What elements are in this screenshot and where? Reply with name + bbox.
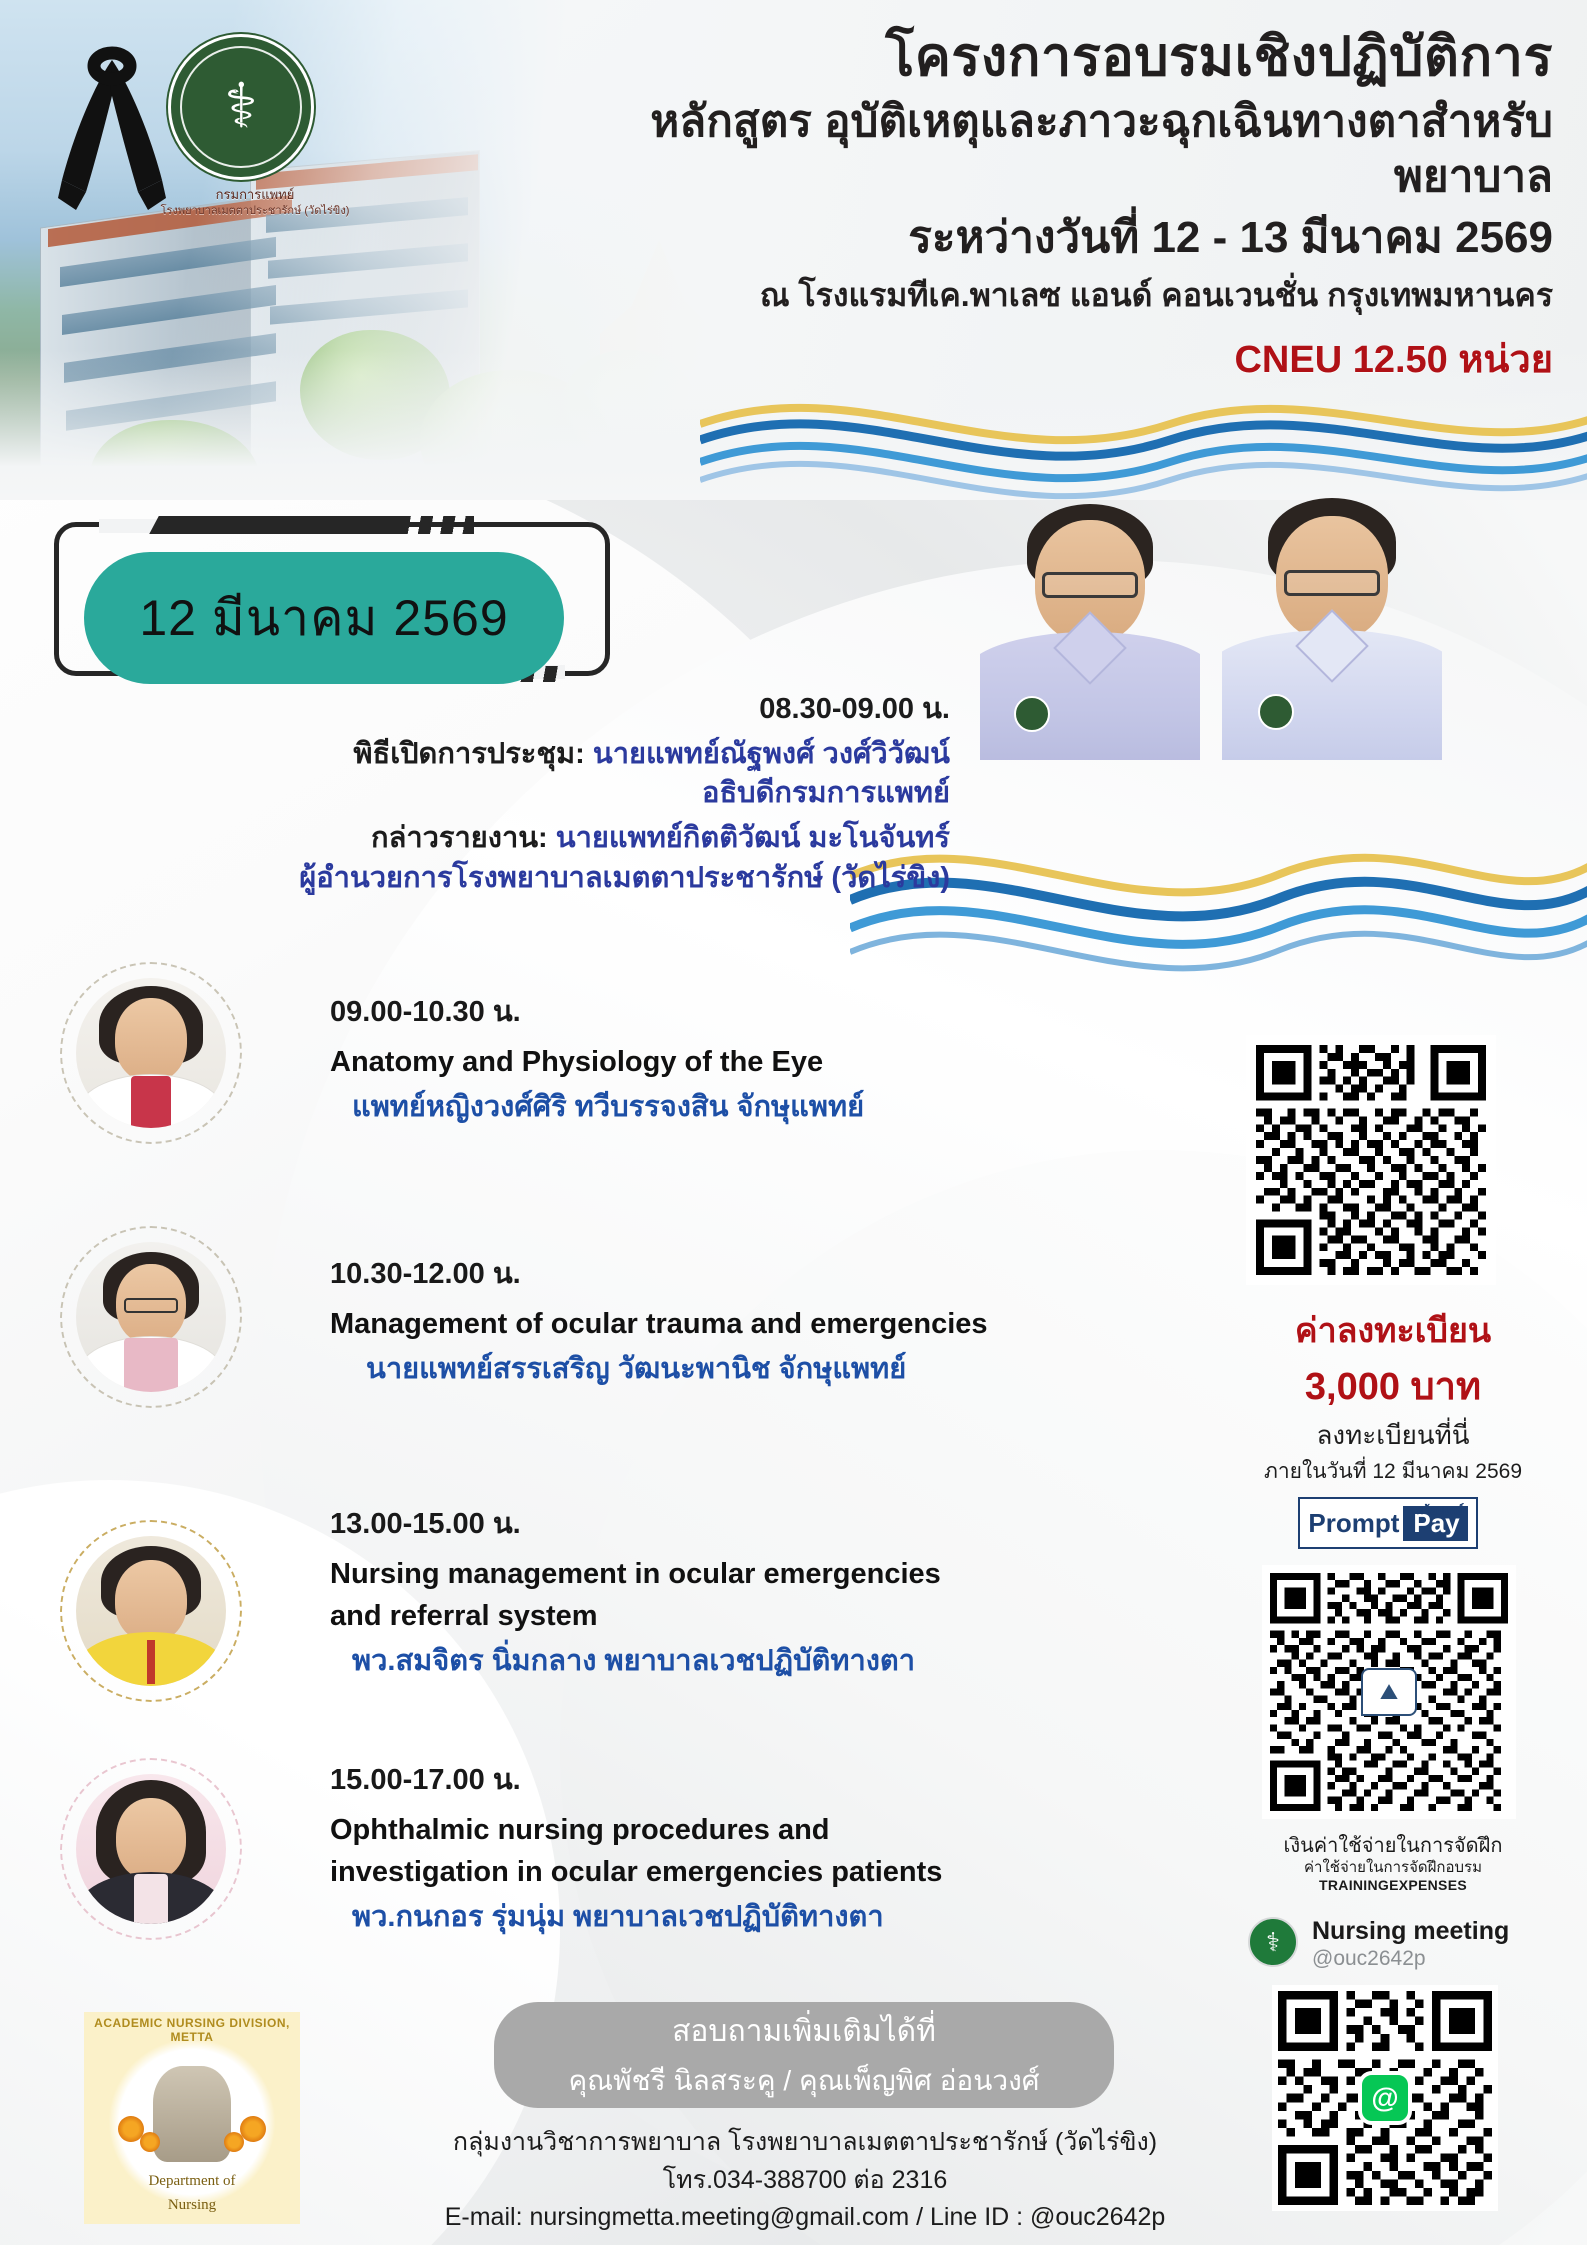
promptpay-thai-label: พร้อมเพย์ <box>1415 1501 1464 1520</box>
promptpay-logo: พร้อมเพย์ Prompt Pay <box>1298 1497 1478 1549</box>
flower-icon-left2 <box>140 2132 160 2152</box>
payment-caption-english: TRAININGEXPENSES <box>1228 1877 1558 1893</box>
speaker-portrait-3 <box>60 1520 242 1702</box>
line-account-name: Nursing meeting <box>1312 1917 1509 1946</box>
session-1-time: 09.00-10.30 น. <box>330 988 1150 1034</box>
date-badge-pill: 12 มีนาคม 2569 <box>84 552 564 684</box>
badge-hatch-top <box>354 516 474 534</box>
academic-logo-dept-line: Department of <box>84 2173 300 2190</box>
session-4-time: 15.00-17.00 น. <box>330 1756 1170 1802</box>
session-4-title-line2: investigation in ocular emergencies pati… <box>330 1852 1170 1892</box>
opening-report-name: นายแพทย์กิตติวัฒน์ มะโนจันทร์ <box>556 822 950 854</box>
speaker-portrait-1 <box>60 962 242 1144</box>
wave-ribbon-middle <box>850 820 1587 1010</box>
session-3-title-line1: Nursing management in ocular emergencies <box>330 1554 1170 1594</box>
fee-amount: 3,000 บาท <box>1228 1355 1558 1416</box>
poster-root: ⚕ กรมการแพทย์ โรงพยาบาลเมตตาประชารักษ์ (… <box>0 0 1587 2245</box>
contact-pill-line2: คุณพัชรี นิลสระคู / คุณเพ็ญพิศ อ่อนวงศ์ <box>568 2059 1039 2103</box>
flower-icon-right2 <box>224 2132 244 2152</box>
session-2-title: Management of ocular trauma and emergenc… <box>330 1304 1160 1344</box>
session-1-speaker: แพทย์หญิงวงศ์ศิริ ทวีบรรจงสิน จักษุแพทย์ <box>330 1088 1150 1127</box>
session-3-time: 13.00-15.00 น. <box>330 1500 1170 1546</box>
wave-ribbon-top <box>700 380 1587 520</box>
footer-line-email: E-mail: nursingmetta.meeting@gmail.com /… <box>230 2199 1380 2237</box>
line-account-handle: @ouc2642p <box>1312 1947 1426 1971</box>
academic-nursing-division-logo: ACADEMIC NURSING DIVISION, METTA Departm… <box>84 2012 300 2224</box>
seal-caption-line1: กรมการแพทย์ <box>150 186 360 204</box>
session-2-time: 10.30-12.00 น. <box>330 1250 1160 1296</box>
opening-time: 08.30-09.00 น. <box>150 690 950 729</box>
payment-caption-thai-2: ค่าใช้จ่ายในการจัดฝึกอบรม <box>1228 1855 1558 1879</box>
session-4-title-line1: Ophthalmic nursing procedures and <box>330 1810 1170 1850</box>
opening-ceremony-label: พิธีเปิดการประชุม: <box>353 738 584 770</box>
vip-portrait-left <box>980 500 1200 760</box>
flower-icon-right <box>240 2116 266 2142</box>
session-4-speaker: พว.กนกอร รุ่มนุ่ม พยาบาลเวชปฏิบัติทางตา <box>330 1898 1170 1937</box>
speaker-portrait-2 <box>60 1226 242 1408</box>
session-2-speaker: นายแพทย์สรรเสริญ วัฒนะพานิช จักษุแพทย์ <box>330 1350 1160 1389</box>
opening-report-label: กล่าวรายงาน: <box>371 822 548 854</box>
seal-caption-line2: โรงพยาบาลเมตตาประชารักษ์ (วัดไร่ขิง) <box>150 204 360 219</box>
nurse-figure-illustration <box>153 2066 231 2162</box>
qr-code-registration-icon[interactable] <box>1246 1035 1496 1285</box>
ministry-of-public-health-seal-icon: ⚕ <box>168 34 314 180</box>
session-1-title: Anatomy and Physiology of the Eye <box>330 1042 1150 1082</box>
line-at-icon: @ <box>1358 2071 1412 2125</box>
contact-pill-line1: สอบถามเพิ่มเติมได้ที่ <box>672 2008 936 2055</box>
event-dates: ระหว่างวันที่ 12 - 13 มีนาคม 2569 <box>493 210 1553 265</box>
poster-title: โครงการอบรมเชิงปฏิบัติการ <box>493 26 1553 90</box>
line-account-block[interactable]: ⚕ Nursing meeting @ouc2642p <box>1248 1915 1568 1973</box>
seal-caption: กรมการแพทย์ โรงพยาบาลเมตตาประชารักษ์ (วั… <box>150 186 360 218</box>
speaker-portrait-4 <box>60 1758 242 1940</box>
opening-ceremony-block: 08.30-09.00 น. พิธีเปิดการประชุม: นายแพท… <box>150 690 950 898</box>
academic-logo-arc-text: ACADEMIC NURSING DIVISION, METTA <box>84 2016 300 2044</box>
footer-line-organization: กลุ่มงานวิชาการพยาบาล โรงพยาบาลเมตตาประช… <box>230 2124 1380 2162</box>
qr-code-promptpay-icon[interactable]: ⛰ <box>1262 1565 1516 1819</box>
footer-contact-block: กลุ่มงานวิชาการพยาบาล โรงพยาบาลเมตตาประช… <box>230 2124 1380 2237</box>
opening-ceremony-name: นายแพทย์ณัฐพงศ์ วงศ์วิวัฒน์ <box>593 738 950 770</box>
register-here-text: ลงทะเบียนที่นี่ <box>1228 1415 1558 1456</box>
course-name: หลักสูตร อุบัติเหตุและภาวะฉุกเฉินทางตาสำ… <box>493 94 1553 204</box>
fee-label: ค่าลงทะเบียน <box>1228 1303 1558 1357</box>
session-3-speaker: พว.สมจิตร นิ่มกลาง พยาบาลเวชปฏิบัติทางตา <box>330 1642 1170 1681</box>
academic-logo-nursing-line: Nursing <box>84 2197 300 2214</box>
promptpay-prompt-word: Prompt <box>1308 1508 1403 1539</box>
opening-report-title: ผู้อำนวยการโรงพยาบาลเมตตาประชารักษ์ (วัด… <box>150 859 950 898</box>
event-venue: ณ โรงแรมทีเค.พาเลซ แอนด์ คอนเวนชั่น กรุง… <box>493 275 1553 317</box>
footer-line-phone: โทร.034-388700 ต่อ 2316 <box>230 2162 1380 2200</box>
contact-pill: สอบถามเพิ่มเติมได้ที่ คุณพัชรี นิลสระคู … <box>494 2002 1114 2108</box>
date-badge: 12 มีนาคม 2569 <box>36 508 628 690</box>
moph-green-seal-icon: ⚕ <box>1248 1917 1298 1967</box>
header-text-block: โครงการอบรมเชิงปฏิบัติการ หลักสูตร อุบัต… <box>493 26 1553 389</box>
opening-ceremony-title: อธิบดีกรมการแพทย์ <box>150 774 950 813</box>
date-badge-label: 12 มีนาคม 2569 <box>139 579 508 658</box>
black-mourning-ribbon-icon <box>52 32 172 212</box>
session-3-title-line2: and referral system <box>330 1596 1170 1636</box>
vip-portrait-right <box>1222 496 1442 760</box>
register-deadline: ภายในวันที่ 12 มีนาคม 2569 <box>1228 1455 1558 1488</box>
